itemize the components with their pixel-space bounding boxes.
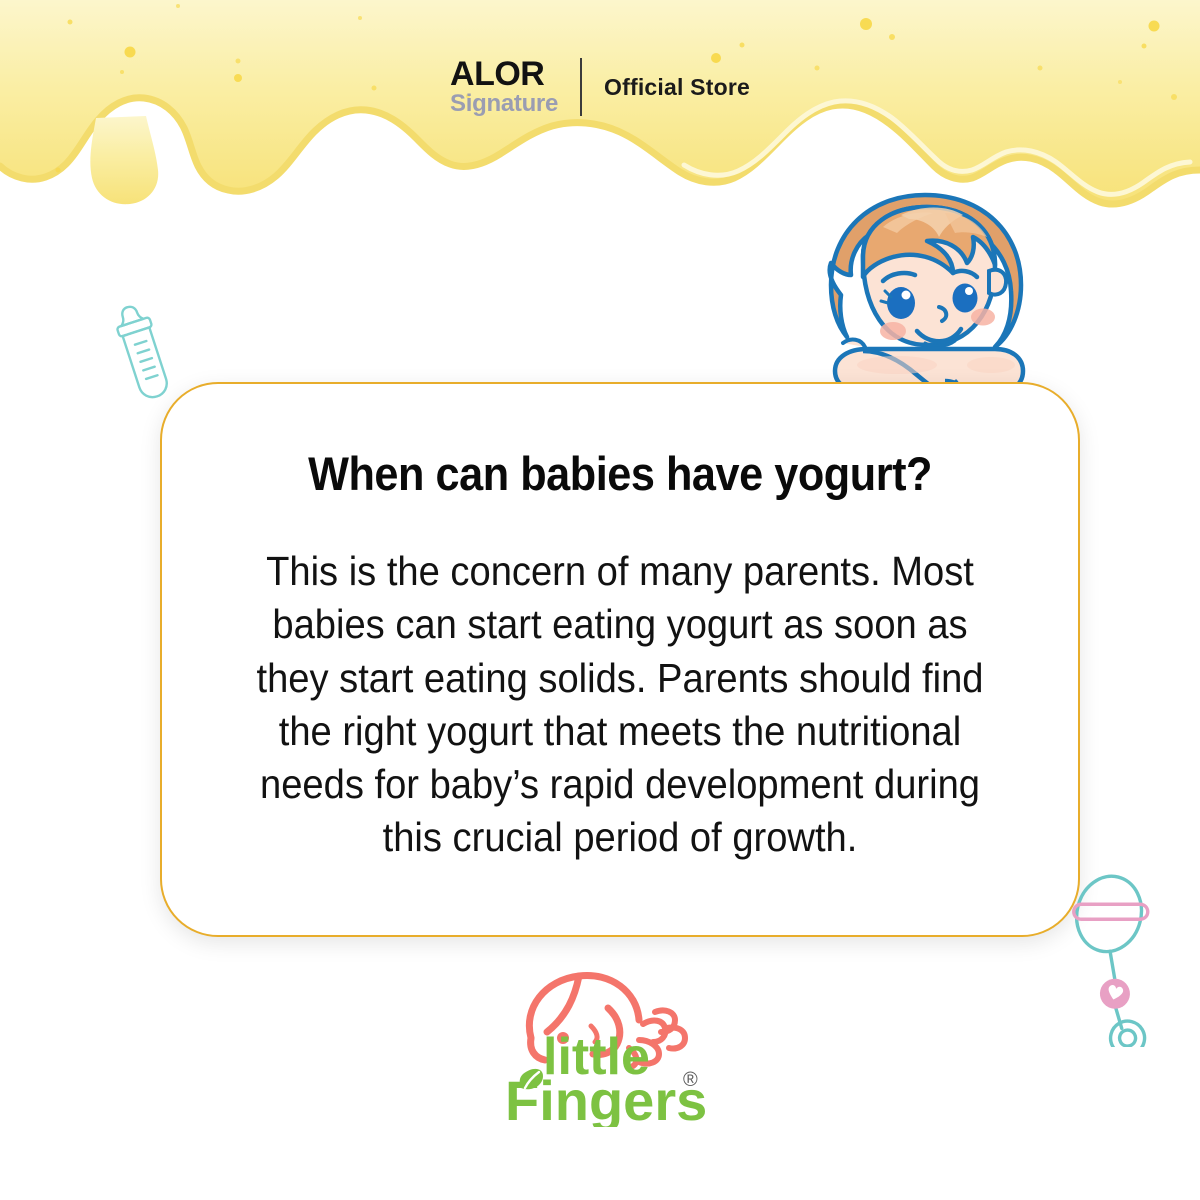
page-title: When can babies have yogurt?: [308, 446, 932, 501]
baby-rattle-icon: [1052, 872, 1172, 1047]
alor-signature-subtitle: Signature: [450, 92, 558, 116]
alor-wordmark: ALOR: [450, 58, 544, 90]
promo-graphic-page: ALOR Signature Official Store: [0, 0, 1200, 1200]
registered-trademark-symbol: ®: [683, 1069, 698, 1091]
content-card: When can babies have yogurt? This is the…: [160, 382, 1080, 937]
header-divider: [580, 58, 582, 116]
little-fingers-logo: little Fingers ®: [487, 962, 717, 1127]
baby-bottle-icon: [100, 298, 190, 408]
official-store-label: Official Store: [604, 74, 750, 101]
brand-header: ALOR Signature Official Store: [0, 52, 1200, 122]
alor-signature-logo: ALOR Signature: [450, 58, 558, 116]
body-paragraph: This is the concern of many parents. Mos…: [234, 545, 1006, 865]
